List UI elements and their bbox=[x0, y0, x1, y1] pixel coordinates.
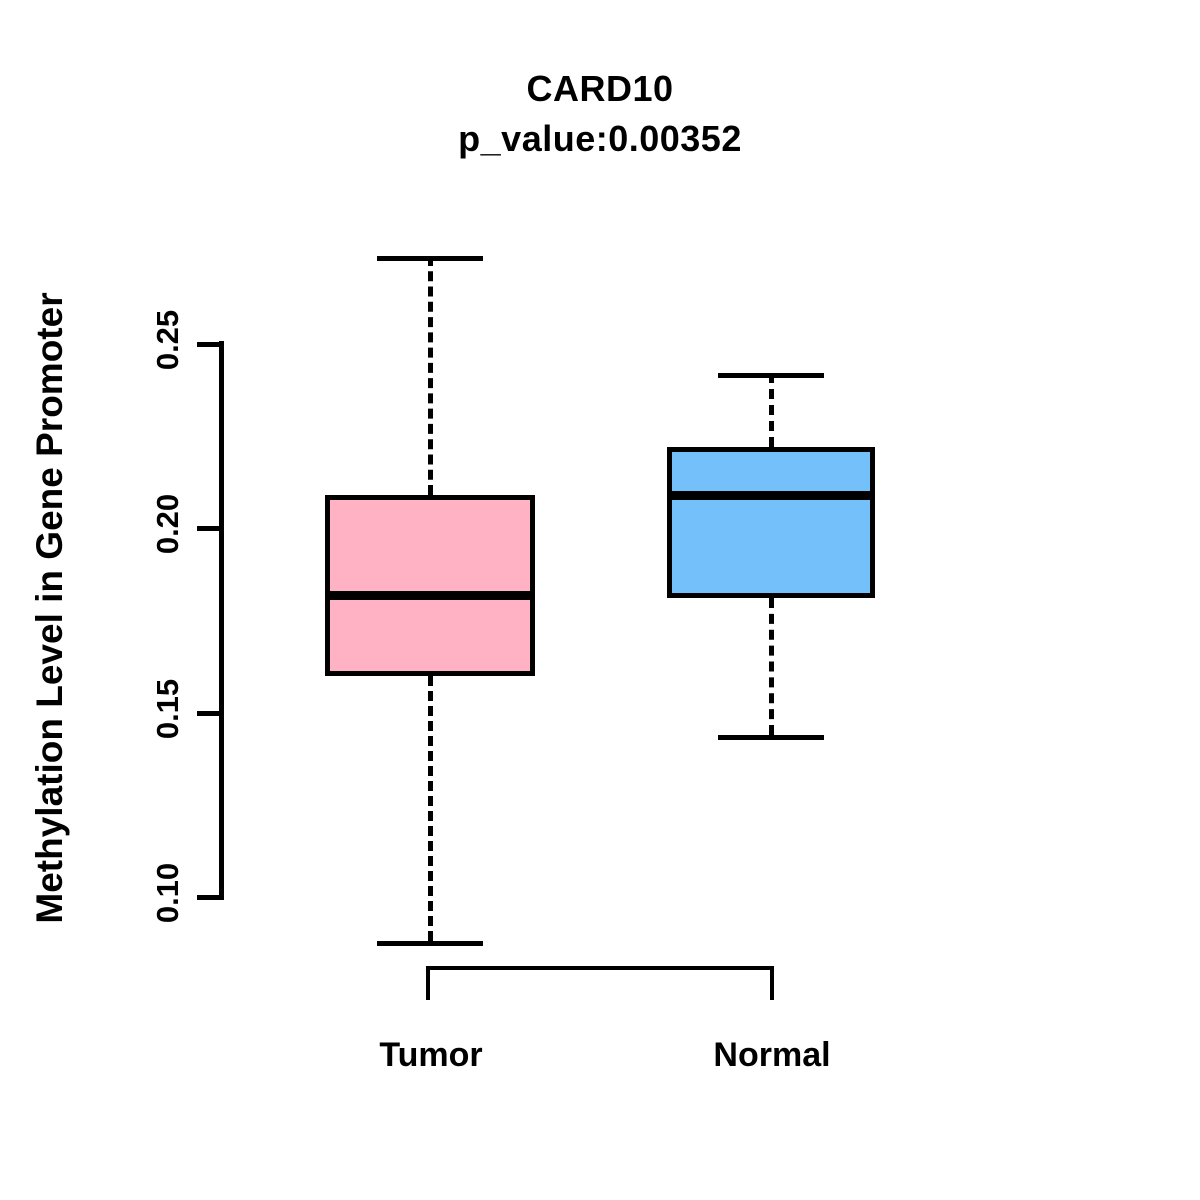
boxplot-figure: CARD10 p_value:0.00352 Methylation Level… bbox=[0, 0, 1200, 1200]
page-title: CARD10 bbox=[0, 68, 1200, 110]
x-label-normal: Normal bbox=[622, 1036, 922, 1075]
x-label-tumor: Tumor bbox=[281, 1036, 581, 1075]
x-axis-bracket bbox=[426, 966, 774, 970]
tumor-upper-whisker-line bbox=[428, 256, 433, 496]
y-tick-label-1: 0.20 bbox=[150, 464, 186, 584]
y-tick-2 bbox=[197, 711, 222, 716]
chart-subtitle: p_value:0.00352 bbox=[0, 118, 1200, 160]
y-tick-label-0: 0.25 bbox=[150, 280, 186, 400]
y-tick-3 bbox=[197, 895, 222, 900]
y-tick-label-2: 0.15 bbox=[150, 649, 186, 769]
normal-upper-whisker-line bbox=[769, 373, 774, 447]
normal-box bbox=[667, 447, 875, 598]
x-axis-bracket-left-leg bbox=[426, 966, 430, 1000]
x-axis-bracket-right-leg bbox=[770, 966, 774, 1000]
y-tick-1 bbox=[197, 526, 222, 531]
normal-median-line bbox=[667, 491, 875, 500]
y-tick-label-3: 0.10 bbox=[150, 833, 186, 953]
y-tick-0 bbox=[197, 342, 222, 347]
tumor-lower-whisker-line bbox=[428, 676, 433, 941]
tumor-median-line bbox=[325, 591, 535, 600]
tumor-lower-whisker-cap bbox=[377, 941, 483, 946]
tumor-box bbox=[325, 495, 535, 676]
y-axis-line bbox=[219, 341, 224, 900]
y-axis-label: Methylation Level in Gene Promoter bbox=[29, 188, 71, 1028]
normal-lower-whisker-cap bbox=[718, 735, 824, 740]
normal-lower-whisker-line bbox=[769, 598, 774, 734]
